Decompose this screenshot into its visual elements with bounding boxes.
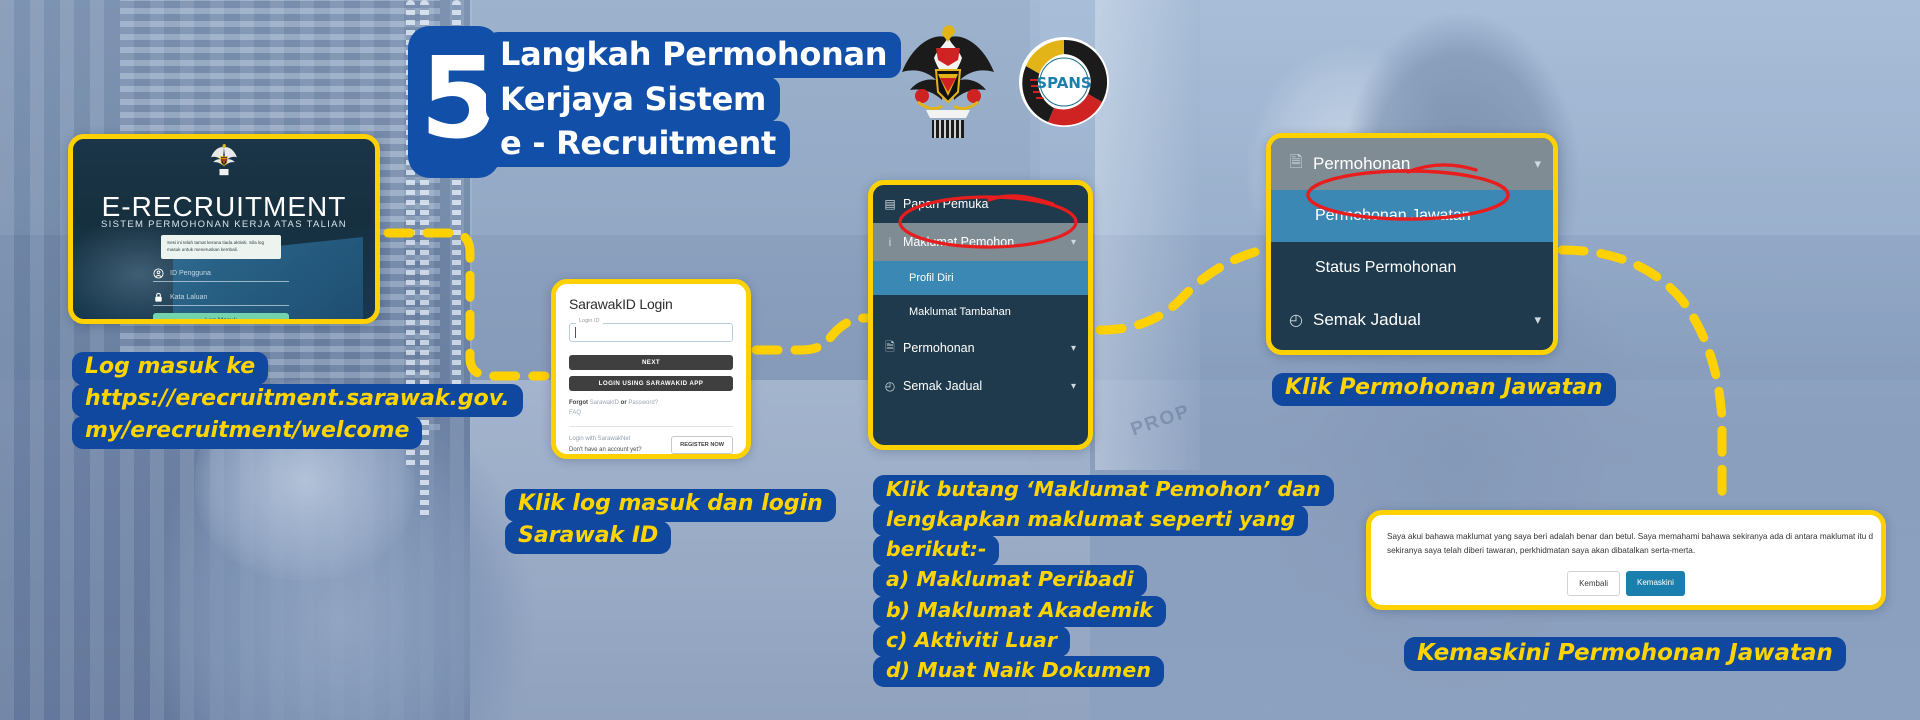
caption-line: https://erecruitment.sarawak.gov.: [72, 384, 523, 417]
caption-line: Kemaskini Permohonan Jawatan: [1404, 637, 1846, 671]
applicant-sidebar-menu-screenshot[interactable]: ▤ Papan Pemuka i Maklumat Pemohon ▾ Prof…: [868, 180, 1093, 450]
caption-line: b) Maklumat Akademik: [873, 596, 1166, 627]
caption-klik-permohonan-jawatan: Klik Permohonan Jawatan: [1272, 373, 1616, 405]
menu-label: Papan Pemuka: [903, 197, 1088, 211]
login-using-app-button[interactable]: LOGIN USING SARAWAKID APP: [569, 376, 733, 391]
menu-label: Status Permohonan: [1315, 259, 1553, 277]
login-id-legend: Login ID: [576, 318, 603, 324]
caption-line: Log masuk ke: [72, 352, 268, 385]
chevron-down-icon: ▾: [1071, 381, 1088, 392]
menu-label: Profil Diri: [909, 272, 1088, 284]
spans-logo-icon: SPANS: [1018, 36, 1110, 128]
helper-links: Forgot SarawakID or Password? FAQ: [569, 398, 733, 418]
password-field[interactable]: Kata Laluan: [153, 289, 289, 306]
chevron-down-icon: ▾: [1071, 237, 1088, 248]
caption-line: lengkapkan maklumat seperti yang: [873, 505, 1308, 536]
dashboard-icon: ▤: [877, 197, 903, 211]
title-line-3: e - Recruitment: [486, 121, 790, 167]
login-id-input[interactable]: [569, 323, 733, 342]
session-expired-alert: Sesi ini telah tamat kerana tiada aktivi…: [161, 235, 281, 259]
user-id-field[interactable]: ID Pengguna: [153, 265, 289, 282]
register-now-button[interactable]: REGISTER NOW: [671, 436, 733, 454]
clock-icon: ◴: [877, 379, 903, 393]
caption-click-login: Klik log masuk dan login Sarawak ID: [505, 489, 836, 553]
menu-item-permohonan-jawatan[interactable]: Permohonan Jawatan: [1271, 190, 1553, 242]
chevron-down-icon: ▾: [1534, 312, 1553, 328]
divider: [569, 426, 733, 427]
menu-label: Maklumat Tambahan: [909, 306, 1088, 318]
clock-icon: ◴: [1279, 310, 1313, 330]
forgot-password-link[interactable]: Password?: [628, 400, 658, 406]
caption-maklumat-pemohon: Klik butang ‘Maklumat Pemohon’ dan lengk…: [873, 475, 1334, 686]
caption-line: berikut:-: [873, 535, 999, 566]
svg-text:SPANS: SPANS: [1036, 74, 1091, 92]
caption-line: Sarawak ID: [505, 521, 671, 554]
document-icon: 🗎: [1279, 151, 1313, 178]
user-id-label: ID Pengguna: [170, 270, 211, 277]
menu-item-maklumat-tambahan[interactable]: Maklumat Tambahan: [873, 295, 1088, 329]
menu-label: Permohonan: [903, 341, 1071, 355]
menu-item-semak-jadual[interactable]: ◴ Semak Jadual ▾: [1271, 294, 1553, 346]
caption-line: my/erecruitment/welcome: [72, 416, 422, 449]
erecruitment-subtitle: SISTEM PERMOHONAN KERJA ATAS TALIAN: [73, 219, 375, 230]
forgot-line: Forgot SarawakID or Password?: [569, 398, 733, 408]
menu-label: Permohonan Jawatan: [1315, 207, 1553, 225]
next-button[interactable]: NEXT: [569, 355, 733, 370]
text-caret: [575, 327, 576, 338]
caption-login-url: Log masuk ke https://erecruitment.sarawa…: [72, 352, 523, 448]
forgot-prefix: Forgot: [569, 400, 590, 406]
menu-item-papan-pemuka[interactable]: ▤ Papan Pemuka: [873, 185, 1088, 223]
caption-line: a) Maklumat Peribadi: [873, 565, 1147, 596]
sarawakid-title: SarawakID Login: [569, 296, 733, 312]
sarawaknet-login-link[interactable]: Login with SarawakNet: [569, 434, 642, 445]
caption-line: Klik Permohonan Jawatan: [1272, 373, 1616, 406]
caption-kemaskini-permohonan-jawatan: Kemaskini Permohonan Jawatan: [1404, 637, 1846, 670]
menu-item-permohonan[interactable]: 🗎 Permohonan ▾: [1271, 138, 1553, 190]
application-sidebar-menu-screenshot[interactable]: 🗎 Permohonan ▾ Permohonan Jawatan Status…: [1266, 133, 1558, 355]
menu-item-status-permohonan[interactable]: Status Permohonan: [1271, 242, 1553, 294]
declaration-dialog-screenshot[interactable]: Saya akui bahawa maklumat yang saya beri…: [1366, 510, 1886, 610]
title-text-lines: Langkah Permohonan Kerjaya Sistem e - Re…: [486, 32, 928, 166]
declaration-line-1: Saya akui bahawa maklumat yang saya beri…: [1387, 530, 1865, 544]
title-line-2: Kerjaya Sistem: [486, 77, 780, 123]
chevron-down-icon: ▾: [1071, 343, 1088, 354]
menu-label: Permohonan: [1313, 154, 1534, 174]
caption-line: Klik log masuk dan login: [505, 489, 836, 522]
title-banner: 5 Langkah Permohonan Kerjaya Sistem e - …: [408, 26, 928, 178]
menu-label: Maklumat Pemohon: [903, 235, 1071, 249]
sarawak-crest-icon: [207, 142, 241, 178]
menu-item-maklumat-pemohon[interactable]: i Maklumat Pemohon ▾: [873, 223, 1088, 261]
chevron-down-icon: ▾: [1534, 156, 1553, 172]
caption-line: c) Aktiviti Luar: [873, 626, 1070, 657]
info-icon: i: [877, 235, 903, 249]
menu-label: Semak Jadual: [903, 379, 1071, 393]
title-number: 5: [420, 48, 494, 151]
log-masuk-button[interactable]: Log Masuk: [153, 313, 289, 324]
title-line-1: Langkah Permohonan: [486, 32, 901, 78]
user-icon: [153, 268, 164, 279]
declaration-line-2: sekiranya saya telah diberi tawaran, per…: [1387, 544, 1865, 558]
faq-link[interactable]: FAQ: [569, 410, 581, 416]
menu-label: Semak Jadual: [1313, 310, 1534, 330]
menu-item-semak-jadual[interactable]: ◴ Semak Jadual ▾: [873, 367, 1088, 405]
caption-line: Klik butang ‘Maklumat Pemohon’ dan: [873, 475, 1334, 506]
password-label: Kata Laluan: [170, 294, 207, 301]
forgot-sarawakid-link[interactable]: SarawakID: [590, 400, 619, 406]
infographic-canvas: PROP 5 Langkah Permohonan Kerjaya Sistem…: [0, 0, 1920, 720]
kemaskini-button[interactable]: Kemaskini: [1626, 571, 1685, 596]
document-icon: 🗎: [877, 338, 903, 359]
caption-line: d) Muat Naik Dokumen: [873, 656, 1164, 687]
lock-icon: [153, 292, 164, 303]
kembali-button[interactable]: Kembali: [1567, 571, 1620, 596]
forgot-or: or: [619, 400, 628, 406]
menu-item-permohonan[interactable]: 🗎 Permohonan ▾: [873, 329, 1088, 367]
erecruitment-login-screenshot[interactable]: E-RECRUITMENT SISTEM PERMOHONAN KERJA AT…: [68, 134, 380, 324]
sarawak-state-crest-icon: [892, 18, 1004, 146]
menu-item-profil-diri[interactable]: Profil Diri: [873, 261, 1088, 295]
login-id-field-group[interactable]: Login ID: [569, 323, 733, 342]
no-account-text: Don't have an account yet?: [569, 445, 642, 456]
sarawakid-login-screenshot[interactable]: SarawakID Login Login ID NEXT LOGIN USIN…: [551, 279, 751, 459]
